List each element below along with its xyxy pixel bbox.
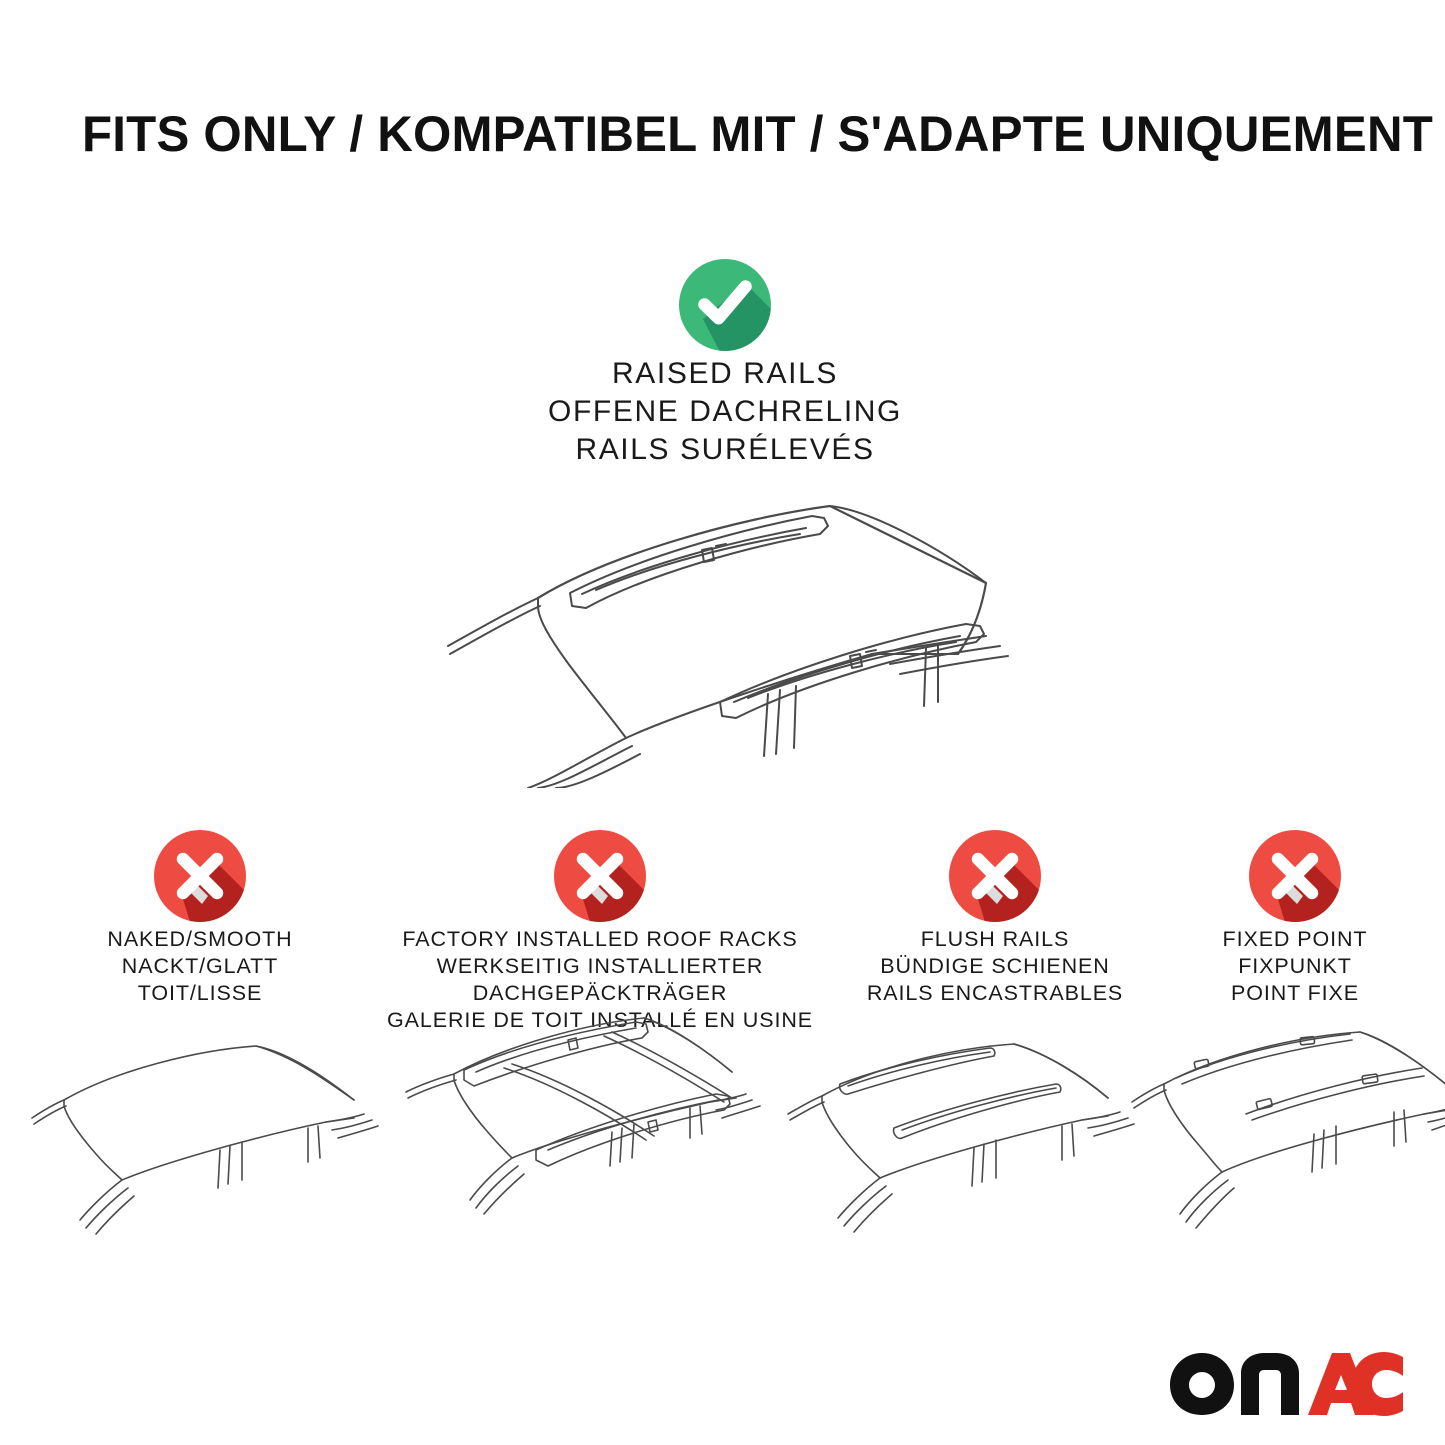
incompatible-labels-3: FIXED POINT FIXPUNKT POINT FIXE [1135, 926, 1445, 1007]
incompatible-3-label-en: FIXED POINT [1135, 926, 1445, 953]
incompatible-0-label-en: NAKED/SMOOTH [20, 926, 380, 953]
incompatible-3-label-de: FIXPUNKT [1135, 953, 1445, 980]
cross-circle-icon [150, 826, 250, 926]
compatible-option: RAISED RAILS OFFENE DACHRELING RAILS SUR… [365, 255, 1085, 469]
incompatible-0-label-fr: TOIT/LISSE [20, 980, 380, 1007]
illustration-naked-smooth [20, 1022, 380, 1252]
compatible-labels: RAISED RAILS OFFENE DACHRELING RAILS SUR… [365, 355, 1085, 469]
incompatible-option-flush-rails: FLUSH RAILS BÜNDIGE SCHIENEN RAILS ENCAS… [815, 826, 1175, 1007]
incompatible-option-factory-roof-racks: FACTORY INSTALLED ROOF RACKS WERKSEITIG … [370, 826, 830, 1034]
cross-circle-icon-wrap [815, 826, 1175, 926]
page-title: FITS ONLY / KOMPATIBEL MIT / S'ADAPTE UN… [82, 104, 1353, 164]
cross-circle-icon [550, 826, 650, 926]
incompatible-1-label-en: FACTORY INSTALLED ROOF RACKS [370, 926, 830, 953]
omac-logo-mark [1169, 1351, 1405, 1417]
check-circle-icon [675, 255, 775, 355]
compatible-label-de: OFFENE DACHRELING [365, 393, 1085, 431]
incompatible-option-naked-smooth: NAKED/SMOOTH NACKT/GLATT TOIT/LISSE [20, 826, 380, 1007]
illustration-raised-rails [420, 488, 1030, 788]
incompatible-1-label-de-1: WERKSEITIG INSTALLIERTER [370, 953, 830, 980]
cross-circle-icon [1245, 826, 1345, 926]
omac-logo [1169, 1351, 1405, 1417]
incompatible-labels-2: FLUSH RAILS BÜNDIGE SCHIENEN RAILS ENCAS… [815, 926, 1175, 1007]
incompatible-labels-0: NAKED/SMOOTH NACKT/GLATT TOIT/LISSE [20, 926, 380, 1007]
illustration-flush-rails [778, 1022, 1146, 1252]
incompatible-2-label-fr: RAILS ENCASTRABLES [815, 980, 1175, 1007]
check-circle-icon-wrap [365, 255, 1085, 355]
cross-circle-icon-wrap [370, 826, 830, 926]
compatible-label-en: RAISED RAILS [365, 355, 1085, 393]
illustration-factory-roof-racks [398, 1010, 768, 1252]
incompatible-1-label-de-2: DACHGEPÄCKTRÄGER [370, 980, 830, 1007]
incompatible-2-label-en: FLUSH RAILS [815, 926, 1175, 953]
incompatible-3-label-fr: POINT FIXE [1135, 980, 1445, 1007]
cross-circle-icon-wrap [1135, 826, 1445, 926]
infographic-page: FITS ONLY / KOMPATIBEL MIT / S'ADAPTE UN… [0, 0, 1445, 1445]
cross-circle-icon-wrap [20, 826, 380, 926]
cross-circle-icon [945, 826, 1045, 926]
incompatible-option-fixed-point: FIXED POINT FIXPUNKT POINT FIXE [1135, 826, 1445, 1007]
illustration-fixed-point [1128, 1022, 1445, 1252]
compatible-label-fr: RAILS SURÉLEVÉS [365, 431, 1085, 469]
incompatible-0-label-de: NACKT/GLATT [20, 953, 380, 980]
incompatible-2-label-de: BÜNDIGE SCHIENEN [815, 953, 1175, 980]
